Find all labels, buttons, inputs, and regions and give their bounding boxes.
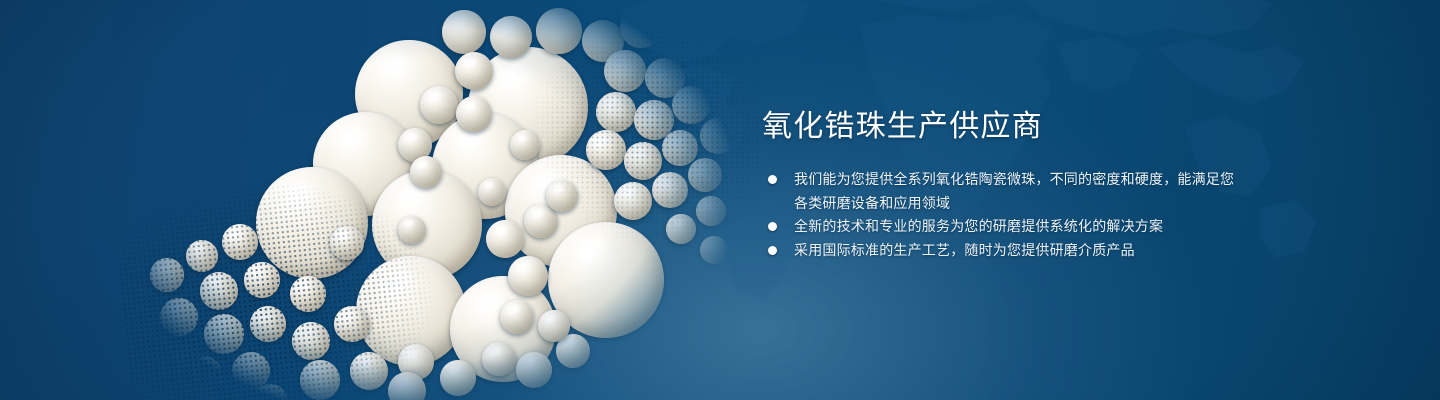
bullet-text: 采用国际标准的生产工艺，随时为您提供研磨介质产品 <box>794 242 1135 258</box>
banner-copy: 氧化锆珠生产供应商 我们能为您提供全系列氧化锆陶瓷微珠，不同的密度和硬度，能满足… <box>760 0 1280 400</box>
bullet-text: 全新的技术和专业的服务为您的研磨提供系统化的解决方案 <box>794 218 1163 234</box>
bullet-dot-icon <box>768 222 777 231</box>
bullet-dot-icon <box>768 246 777 255</box>
list-item: 全新的技术和专业的服务为您的研磨提供系统化的解决方案 <box>766 215 1236 239</box>
banner-bullet-list: 我们能为您提供全系列氧化锆陶瓷微珠，不同的密度和硬度，能满足您各类研磨设备和应用… <box>766 168 1236 262</box>
list-item: 我们能为您提供全系列氧化锆陶瓷微珠，不同的密度和硬度，能满足您各类研磨设备和应用… <box>766 168 1236 215</box>
bullet-dot-icon <box>768 175 777 184</box>
list-item: 采用国际标准的生产工艺，随时为您提供研磨介质产品 <box>766 239 1236 263</box>
hero-banner: 氧化锆珠生产供应商 我们能为您提供全系列氧化锆陶瓷微珠，不同的密度和硬度，能满足… <box>0 0 1440 400</box>
bullet-text: 我们能为您提供全系列氧化锆陶瓷微珠，不同的密度和硬度，能满足您各类研磨设备和应用… <box>794 171 1234 211</box>
banner-headline: 氧化锆珠生产供应商 <box>762 108 1043 146</box>
halftone-dot-pattern-upper <box>430 0 760 280</box>
